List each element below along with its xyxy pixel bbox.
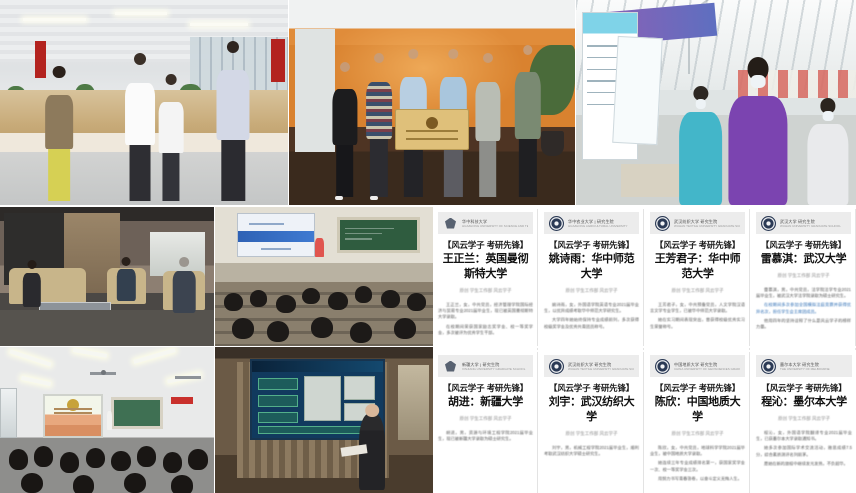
head <box>53 66 66 79</box>
article-card[interactable]: 武汉纺织大学 研究生院 WUHAN TEXTILE UNIVERSITY GRA… <box>540 352 644 493</box>
photo-lounge-meeting <box>0 207 214 346</box>
student-head <box>163 452 182 472</box>
card-paragraph: 程沁，女，外国语学院翻译专业2021届毕业生，已获墨尔本大学录取通知书。 <box>756 430 852 442</box>
card-body: 雷慕淇，男，中共党员，法学院法学专业2021届毕业生，被武汉大学法学院录取为硕士… <box>756 287 851 333</box>
ceiling-light <box>9 349 51 366</box>
plaque-seal-icon <box>426 117 438 129</box>
chalk-line <box>345 233 382 235</box>
card-paragraph: 雷慕淇，男，中共党员，法学院法学专业2021届毕业生，被武汉大学法学院录取为硕士… <box>756 287 851 299</box>
teacher <box>107 411 112 430</box>
account-name-block: 武汉纺织大学 研究生院 WUHAN TEXTILE UNIVERSITY GRA… <box>674 219 740 228</box>
account-subtitle: WUHAN UNIVERSITY GRADUATE SCHOOL <box>780 224 846 228</box>
ceiling-light <box>21 376 51 386</box>
award-scene <box>289 0 575 205</box>
torso <box>125 83 155 145</box>
torso <box>515 72 541 139</box>
card-bracket-label: 【风云学子 考研先锋】 <box>438 240 533 251</box>
collage-seam <box>0 205 856 207</box>
slide-image <box>304 376 341 421</box>
chalk-line <box>345 228 394 230</box>
head <box>340 62 350 72</box>
student-head <box>21 473 42 493</box>
collage-seam <box>434 346 856 348</box>
card-byline: 原创 学生工作部 风云学子 <box>756 272 851 279</box>
head <box>409 49 418 58</box>
card-paragraph: 王正兰，女，中共党员，经济管理学院国际经济与贸易专业2021届毕业生，现已被英国… <box>438 302 533 321</box>
lounge-scene <box>0 207 214 346</box>
account-name-block: 武汉纺织大学 研究生院 WUHAN TEXTILE UNIVERSITY GRA… <box>568 362 634 371</box>
student-head <box>381 290 401 308</box>
student-head <box>355 286 372 303</box>
student-head <box>9 449 28 469</box>
legs <box>479 141 497 197</box>
student-head <box>111 451 130 471</box>
student-head <box>302 288 319 305</box>
head <box>122 257 131 266</box>
article-card[interactable]: 墨尔本大学 研究生院 THE UNIVERSITY OF MELBOURNE 【… <box>752 352 856 493</box>
slide-line <box>249 223 284 225</box>
face-mask <box>695 99 705 109</box>
card-paragraph: 王芳君子，女，中共预备党员，人文学院汉语言文学专业学生，已被华中师范大学录取。 <box>650 302 745 314</box>
card-byline: 原创 学生工作部 风云学子 <box>438 415 533 422</box>
student-head <box>328 292 348 310</box>
job-fair-scene <box>576 0 856 205</box>
article-card[interactable]: 武汉纺织大学 研究生院 WUHAN TEXTILE UNIVERSITY GRA… <box>646 209 750 350</box>
article-card[interactable]: 武汉大学 研究生院 WUHAN UNIVERSITY GRADUATE SCHO… <box>752 209 856 350</box>
wall-poster-red <box>271 39 285 82</box>
collage-seam <box>288 0 289 205</box>
person <box>171 257 197 313</box>
card-bracket-label: 【风云学子 考研先锋】 <box>438 383 533 394</box>
lecture-scene <box>215 207 433 346</box>
student-head <box>407 293 427 311</box>
legs <box>163 153 180 201</box>
card-paragraph: 在校期间荣获国家励志奖学金、校一等奖学金，多次被评为优秀学生干部。 <box>438 324 533 336</box>
student-head <box>224 293 244 311</box>
student-head <box>34 446 53 466</box>
plant-pot <box>541 131 564 156</box>
chalkboard <box>111 397 162 429</box>
card-title: 姚诗雨：华中师范大学 <box>544 252 639 282</box>
card-paragraph: 陈欣，女，中共党员，地球科学学院2021届毕业生，被中国地质大学录取。 <box>650 445 745 457</box>
card-bracket-label: 【风云学子 考研先锋】 <box>544 240 639 251</box>
slide-header <box>252 361 383 372</box>
award-plaque <box>395 109 469 150</box>
projection-screen <box>237 213 315 257</box>
torso <box>45 95 73 149</box>
card-byline: 原创 学生工作部 风云学子 <box>438 287 533 294</box>
ceiling-fan <box>175 376 201 379</box>
card-paragraph: 姚诗雨，女，外国语学院英语专业2021届毕业生，以优异成绩考取华中师范大学研究生… <box>544 302 639 314</box>
card-bracket-label: 【风云学子 考研先锋】 <box>650 383 745 394</box>
person <box>472 53 503 197</box>
card-title: 陈欣：中国地质大学 <box>650 395 745 425</box>
ceiling-lamp <box>190 23 248 26</box>
head <box>134 53 146 65</box>
photo-job-fair <box>576 0 856 205</box>
seal-icon <box>761 359 776 374</box>
card-body: 胡进，男，资源与环境工程学院2021届毕业生，现已被新疆大学录取为硕士研究生。 <box>438 430 533 445</box>
ceiling-lamp <box>23 18 86 21</box>
card-bracket-label: 【风云学子 考研先锋】 <box>544 383 639 394</box>
card-byline: 原创 学生工作部 风云学子 <box>650 287 745 294</box>
article-card[interactable]: 新疆大学 | 研究生院 XINJIANG UNIVERSITY GRADUATE… <box>434 352 538 493</box>
student-head <box>250 290 267 307</box>
seal-icon <box>549 359 564 374</box>
card-account-header: 武汉纺织大学 研究生院 WUHAN TEXTILE UNIVERSITY GRA… <box>544 355 639 377</box>
student-head <box>73 475 94 493</box>
shoe <box>370 196 378 200</box>
card-body: 姚诗雨，女，外国语学院英语专业2021届毕业生，以优异成绩考取华中师范大学研究生… <box>544 302 639 333</box>
head <box>523 45 532 54</box>
window <box>0 388 17 438</box>
slide-cell <box>258 412 297 423</box>
account-name-block: 墨尔本大学 研究生院 THE UNIVERSITY OF MELBOURNE <box>780 362 847 371</box>
account-subtitle: WUHAN TEXTILE UNIVERSITY GRADUATE SCHOOL <box>568 367 634 371</box>
side-window <box>398 365 429 441</box>
student-head <box>311 317 333 338</box>
collage-seam <box>433 207 434 493</box>
photo-group-plaque <box>289 0 575 205</box>
legs <box>222 140 245 201</box>
card-title: 程沁：墨尔本大学 <box>756 395 852 410</box>
seal-icon <box>655 216 670 231</box>
card-account-header: 武汉大学 研究生院 WUHAN UNIVERSITY GRADUATE SCHO… <box>756 212 851 234</box>
projection-screen <box>43 394 103 438</box>
photo-lecture-hall <box>215 207 433 346</box>
torso <box>159 102 184 153</box>
shoe <box>335 196 343 200</box>
chalk-line <box>345 238 373 240</box>
card-body: 程沁，女，外国语学院翻译专业2021届毕业生，已获墨尔本大学录取通知书。 她多次… <box>756 430 852 470</box>
plaque-line <box>406 130 458 132</box>
person <box>116 257 137 301</box>
card-account-header: 武汉纺织大学 研究生院 WUHAN TEXTILE UNIVERSITY GRA… <box>650 212 745 234</box>
account-name-block: 华中农业大学 | 研究生院 HUAZHONG AGRICULTURAL UNIV… <box>568 219 634 228</box>
student-head <box>188 449 207 469</box>
head <box>449 49 458 58</box>
card-paragraph: 胡进，男，资源与环境工程学院2021届毕业生，现已被新疆大学录取为硕士研究生。 <box>438 430 533 442</box>
person <box>21 260 42 307</box>
sofa <box>9 268 86 304</box>
head <box>483 53 493 63</box>
person <box>156 74 188 201</box>
card-account-header: 华中农业大学 | 研究生院 HUAZHONG AGRICULTURAL UNIV… <box>544 212 639 234</box>
legs <box>48 149 70 200</box>
card-paragraph: 愿她在新的旅程中继续发光发热，不负韶华。 <box>756 461 852 467</box>
card-title: 王正兰：英国曼彻斯特大学 <box>438 252 533 282</box>
floor-rug <box>0 310 214 346</box>
account-name-block: 华中科技大学 HUAZHONG UNIVERSITY OF SCIENCE AN… <box>462 219 528 228</box>
head <box>374 53 384 63</box>
account-name-block: 武汉大学 研究生院 WUHAN UNIVERSITY GRADUATE SCHO… <box>780 219 846 228</box>
card-title: 雷慕淇：武汉大学 <box>756 252 851 267</box>
card-bracket-label: 【风云学子 考研先锋】 <box>650 240 745 251</box>
legs <box>129 145 150 201</box>
seal-icon <box>549 216 564 231</box>
ceiling-fan-hub <box>101 370 106 375</box>
card-account-header: 华中科技大学 HUAZHONG UNIVERSITY OF SCIENCE AN… <box>438 212 533 234</box>
student-head <box>350 322 372 343</box>
card-bracket-label: 【风云学子 考研先锋】 <box>756 383 852 394</box>
legs <box>370 139 388 196</box>
torso <box>217 70 250 140</box>
card-account-header: 新疆大学 | 研究生院 XINJIANG UNIVERSITY GRADUATE… <box>438 355 533 377</box>
slide-text-line <box>54 408 92 410</box>
card-paragraph-highlight: 在校期间多次参加全国模拟法庭竞赛并获得优异名次，担任学生会主席团成员。 <box>756 302 851 314</box>
person <box>806 98 851 205</box>
student-head <box>137 446 156 466</box>
card-byline: 原创 学生工作部 风云学子 <box>544 430 639 437</box>
head <box>365 404 379 418</box>
lecturer <box>315 238 324 257</box>
torso <box>807 124 848 205</box>
card-bracket-label: 【风云学子 考研先锋】 <box>756 240 851 251</box>
seal-icon <box>761 216 776 231</box>
person <box>329 62 360 197</box>
card-byline: 原创 学生工作部 风云学子 <box>544 287 639 294</box>
crest-icon <box>443 216 458 231</box>
card-paragraph: 用努力书写青春答卷，以奋斗定义无悔人生。 <box>650 476 745 482</box>
student-head <box>276 295 296 313</box>
student-head <box>394 318 416 339</box>
slide-cell <box>258 426 371 434</box>
office-scene <box>0 0 288 205</box>
photo-classroom-assembly <box>0 347 214 493</box>
photo-woman-presenting <box>215 347 433 493</box>
article-card[interactable]: 华中科技大学 HUAZHONG UNIVERSITY OF SCIENCE AN… <box>434 209 538 350</box>
person <box>121 53 158 201</box>
torso <box>117 269 135 301</box>
torso <box>728 96 787 205</box>
article-card[interactable]: 华中农业大学 | 研究生院 HUAZHONG AGRICULTURAL UNIV… <box>540 209 644 350</box>
card-account-header: 中国地质大学 研究生院 CHINA UNIVERSITY OF GEOSCIEN… <box>650 355 745 377</box>
crest-icon <box>443 359 458 374</box>
card-title: 刘宇：武汉纺织大学 <box>544 395 639 425</box>
card-title: 王芳君子：华中师范大学 <box>650 252 745 282</box>
slide-cell <box>258 395 297 407</box>
legs <box>519 139 537 197</box>
student-head <box>267 321 289 342</box>
account-subtitle: XINJIANG UNIVERSITY GRADUATE SCHOOL <box>462 367 528 371</box>
wall-banner-red <box>171 397 192 404</box>
card-paragraph: 她多次参加国际学术交流活动，雅思成绩7.5分，综合素质测评名列前茅。 <box>756 445 852 457</box>
person <box>677 86 725 205</box>
classroom-scene <box>0 347 214 493</box>
slide-text-line <box>54 412 92 414</box>
photo-collage: 华中科技大学 HUAZHONG UNIVERSITY OF SCIENCE AN… <box>0 0 856 493</box>
head <box>227 41 239 53</box>
card-body: 陈欣，女，中共党员，地球科学学院2021届毕业生，被中国地质大学录取。 她连续三… <box>650 445 745 485</box>
torso <box>23 273 41 307</box>
photo-office-visit <box>0 0 288 205</box>
ceiling-light <box>133 348 175 364</box>
torso <box>366 82 392 139</box>
head <box>179 257 189 267</box>
student-head <box>232 318 254 339</box>
card-paragraph: 他用四年的坚持诠释了什么是风云学子的榜样力量。 <box>756 318 851 330</box>
student-head <box>86 448 105 468</box>
collage-seam <box>575 0 576 205</box>
card-byline: 原创 学生工作部 风云学子 <box>650 430 745 437</box>
person <box>40 66 77 201</box>
card-body: 王正兰，女，中共党员，经济管理学院国际经济与贸易专业2021届毕业生，现已被英国… <box>438 302 533 339</box>
account-subtitle: HUAZHONG AGRICULTURAL UNIVERSITY <box>568 224 634 228</box>
card-title: 胡进：新疆大学 <box>438 395 533 410</box>
plaque-line <box>406 138 458 140</box>
card-body: 王芳君子，女，中共预备党员，人文学院汉语言文学专业学生，已被华中师范大学录取。 … <box>650 302 745 333</box>
student-head <box>124 473 145 493</box>
collage-seam <box>214 207 215 493</box>
account-subtitle: HUAZHONG UNIVERSITY OF SCIENCE AND TECHN… <box>462 224 528 228</box>
student-head <box>60 452 79 472</box>
collage-seam <box>0 346 434 347</box>
seal-icon <box>655 359 670 374</box>
account-subtitle: WUHAN TEXTILE UNIVERSITY GRADUATE SCHOOL <box>674 224 740 228</box>
torso <box>679 112 723 205</box>
ceiling-light <box>73 348 107 358</box>
student-head <box>171 475 192 493</box>
person <box>363 53 394 197</box>
slide-line <box>261 248 292 250</box>
account-name-block: 新疆大学 | 研究生院 XINJIANG UNIVERSITY GRADUATE… <box>462 362 528 371</box>
torso <box>475 82 500 141</box>
card-account-header: 墨尔本大学 研究生院 THE UNIVERSITY OF MELBOURNE <box>756 355 852 377</box>
chalkboard <box>337 217 420 253</box>
card-paragraph: 大学四年她始终保持专业成绩前列，多次获得校级奖学金及优秀共青团员称号。 <box>544 317 639 329</box>
article-card[interactable]: 中国地质大学 研究生院 CHINA UNIVERSITY OF GEOSCIEN… <box>646 352 750 493</box>
head <box>166 74 177 85</box>
recruitment-poster <box>612 36 662 145</box>
torso <box>173 271 196 312</box>
head <box>28 260 37 269</box>
account-name-block: 中国地质大学 研究生院 CHINA UNIVERSITY OF GEOSCIEN… <box>674 362 740 371</box>
slide-image <box>344 376 375 399</box>
card-paragraph: 她连续三年专业成绩排名第一，获国家奖学金一次、校一等奖学金三次。 <box>650 460 745 472</box>
article-card-grid: 华中科技大学 HUAZHONG UNIVERSITY OF SCIENCE AN… <box>434 207 856 493</box>
card-paragraph: 她在实习期间表现突出，曾获得校级优秀实习生荣誉称号。 <box>650 317 745 329</box>
face-mask <box>751 75 766 88</box>
slide-cell <box>258 378 297 390</box>
person <box>213 41 253 201</box>
card-body: 刘宇，男，机械工程学院2021届毕业生，顺利考取武汉纺织大学硕士研究生。 <box>544 445 639 460</box>
card-paragraph: 刘宇，男，机械工程学院2021届毕业生，顺利考取武汉纺织大学硕士研究生。 <box>544 445 639 457</box>
account-subtitle: CHINA UNIVERSITY OF GEOSCIENCES GRADUATE… <box>674 367 740 371</box>
presentation-scene <box>215 347 433 493</box>
slide-title-bar <box>238 231 314 242</box>
face-mask <box>823 111 834 121</box>
person <box>512 45 543 197</box>
torso <box>332 89 357 146</box>
person <box>727 57 789 205</box>
card-byline: 原创 学生工作部 风云学子 <box>756 415 852 422</box>
ceiling-lamp <box>115 12 167 15</box>
account-subtitle: THE UNIVERSITY OF MELBOURNE <box>780 367 847 371</box>
legs <box>336 145 354 196</box>
